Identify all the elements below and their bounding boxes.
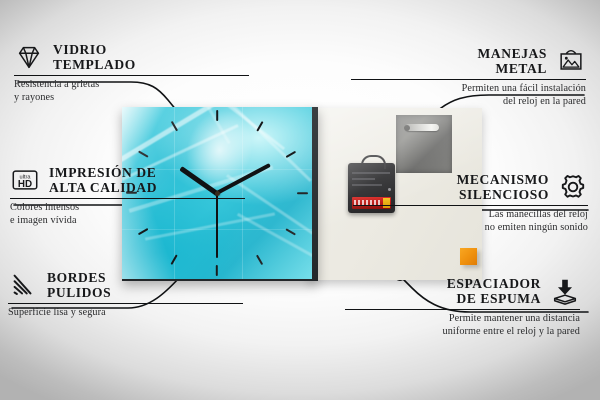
feature-divider bbox=[10, 198, 245, 199]
feature-divider bbox=[345, 309, 580, 310]
feature-description: Resistencia a grietas y rayones bbox=[14, 79, 249, 104]
feature-divider bbox=[353, 205, 588, 206]
infographic-canvas: VIDRIO TEMPLADO Resistencia a grietas y … bbox=[0, 0, 600, 400]
feature-title: VIDRIO TEMPLADO bbox=[53, 42, 249, 72]
gear-icon bbox=[558, 172, 588, 202]
feature-bordes-pulidos: BORDES PULIDOS Superficie lisa y segura bbox=[8, 270, 243, 320]
svg-text:HD: HD bbox=[18, 179, 32, 190]
feature-heading: ultra HD IMPRESIÓN DE ALTA CALIDAD bbox=[10, 165, 245, 195]
foam-spacer-arrow-icon bbox=[550, 276, 580, 306]
ultra-hd-icon: ultra HD bbox=[10, 165, 40, 195]
feature-title: MECANISMO SILENCIOSO bbox=[353, 172, 549, 202]
feature-description: Permite mantener una distancia uniforme … bbox=[345, 313, 580, 338]
hanger-slot bbox=[405, 124, 439, 131]
metal-hanger-plate bbox=[396, 115, 452, 173]
feature-title: ESPACIADOR DE ESPUMA bbox=[345, 276, 541, 306]
feature-heading: VIDRIO TEMPLADO bbox=[14, 42, 249, 72]
feature-divider bbox=[8, 303, 243, 304]
feature-divider bbox=[14, 75, 249, 76]
feature-description: Las manecillas del reloj no emiten ningú… bbox=[353, 209, 588, 234]
feature-heading: MANEJAS METAL bbox=[351, 46, 586, 76]
feature-divider bbox=[351, 79, 586, 80]
feature-mecanismo-silencioso: MECANISMO SILENCIOSO Las manecillas del … bbox=[353, 172, 588, 234]
feature-impresion-alta-calidad: ultra HD IMPRESIÓN DE ALTA CALIDAD Color… bbox=[10, 165, 245, 227]
feature-description: Superficie lisa y segura bbox=[8, 307, 243, 319]
feature-description: Colores intensos e imagen vívida bbox=[10, 202, 245, 227]
feature-title: BORDES PULIDOS bbox=[47, 270, 243, 300]
polished-edges-icon bbox=[8, 270, 38, 300]
feature-title: MANEJAS METAL bbox=[351, 46, 547, 76]
feature-manejas-metal: MANEJAS METAL Permiten una fácil instala… bbox=[351, 46, 586, 108]
feature-title: IMPRESIÓN DE ALTA CALIDAD bbox=[49, 165, 245, 195]
foam-spacer bbox=[460, 248, 477, 265]
mechanism-hanging-loop bbox=[361, 155, 386, 169]
hanger-hole bbox=[404, 125, 410, 131]
feature-heading: MECANISMO SILENCIOSO bbox=[353, 172, 588, 202]
feature-heading: BORDES PULIDOS bbox=[8, 270, 243, 300]
feature-heading: ESPACIADOR DE ESPUMA bbox=[345, 276, 580, 306]
diamond-icon bbox=[14, 42, 44, 72]
feature-vidrio-templado: VIDRIO TEMPLADO Resistencia a grietas y … bbox=[14, 42, 249, 104]
feature-description: Permiten una fácil instalación del reloj… bbox=[351, 83, 586, 108]
wall-hanger-frame-icon bbox=[556, 46, 586, 76]
feature-espaciador-espuma: ESPACIADOR DE ESPUMA Permite mantener un… bbox=[345, 276, 580, 338]
